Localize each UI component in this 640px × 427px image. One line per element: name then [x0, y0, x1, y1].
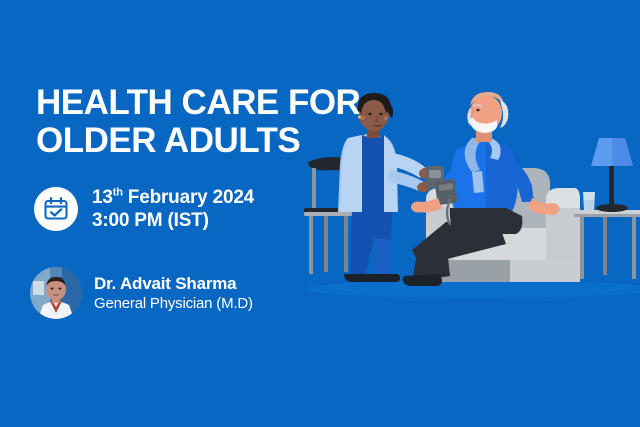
- speaker-info: Dr. Advait Sharma General Physician (M.D…: [30, 267, 253, 319]
- elderly-care-illustration: [300, 88, 640, 313]
- water-glass: [583, 192, 595, 210]
- event-date-rest: February 2024: [123, 187, 254, 208]
- speaker-text: Dr. Advait Sharma General Physician (M.D…: [94, 273, 253, 313]
- datetime-text: 13th February 2024 3:00 PM (IST): [92, 186, 254, 232]
- event-date-suffix: th: [113, 187, 123, 199]
- event-datetime: 13th February 2024 3:00 PM (IST): [34, 186, 254, 232]
- side-table: [574, 210, 640, 279]
- event-time: 3:00 PM (IST): [92, 209, 254, 232]
- event-date-day: 13: [92, 187, 113, 208]
- calendar-check-icon: [34, 187, 78, 231]
- webinar-poster: HEALTH CARE FOR OLDER ADULTS 13th Februa…: [0, 0, 640, 427]
- speaker-role: General Physician (M.D): [94, 294, 253, 313]
- avatar: [30, 267, 82, 319]
- speaker-name: Dr. Advait Sharma: [94, 273, 253, 294]
- table-lamp: [591, 138, 633, 212]
- ground-shadow: [305, 280, 640, 298]
